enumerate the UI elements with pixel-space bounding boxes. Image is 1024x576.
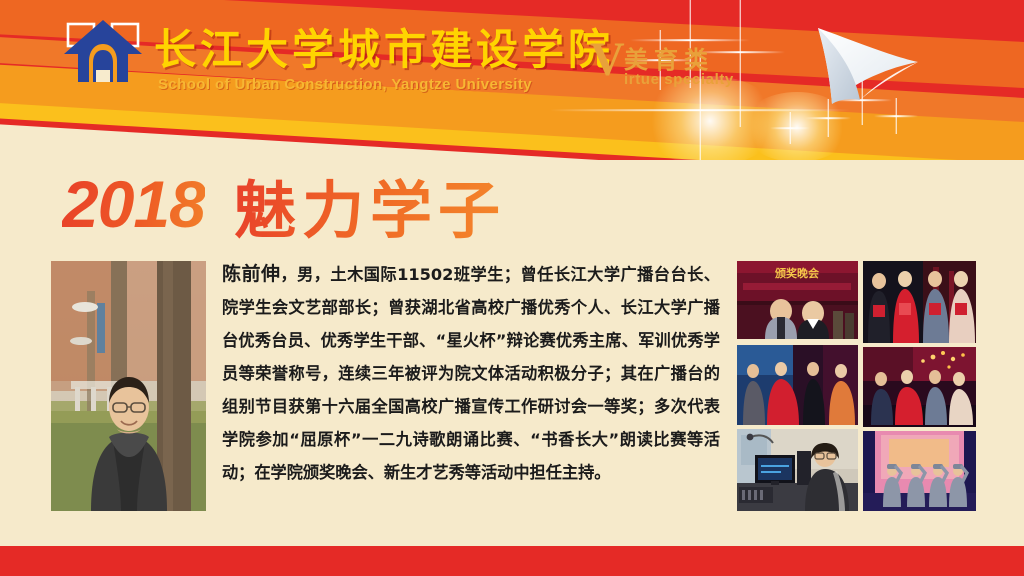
page-title: 魅力学子 — [234, 160, 506, 250]
photo-radio-studio[interactable] — [737, 429, 858, 511]
student-portrait — [51, 261, 206, 511]
photo-gallery: 颁奖晚会 — [737, 261, 976, 511]
svg-text:颁奖晚会: 颁奖晚会 — [775, 266, 820, 280]
student-bio-text: ，男，土木国际11502班学生；曾任长江大学广播台台长、院学生会文艺部部长；曾获… — [222, 265, 720, 482]
paper-plane-icon — [812, 22, 928, 114]
student-name: 陈前伸 — [222, 263, 280, 285]
badge-category-cn: 美育类 — [624, 40, 714, 75]
house-icon — [62, 14, 144, 86]
title-year: 2018 — [62, 166, 205, 242]
photo-award-winners-group[interactable] — [863, 261, 976, 343]
poster: 长江大学城市建设学院 School of Urban Construction,… — [0, 0, 1024, 576]
photo-stage-performance-blue[interactable] — [737, 345, 858, 425]
badge-initial: V — [590, 36, 625, 84]
student-bio: 陈前伸，男，土木国际11502班学生；曾任长江大学广播台台长、院学生会文艺部部长… — [222, 258, 720, 520]
photo-award-ceremony-hosts[interactable]: 颁奖晚会 — [737, 261, 858, 339]
badge-category-en: irtue specialty — [624, 71, 734, 88]
photo-stage-recital-red[interactable] — [863, 347, 976, 427]
footer-bar — [0, 546, 1024, 576]
title-row: 2018 魅力学子 — [62, 160, 962, 244]
school-name-cn: 长江大学城市建设学院 — [154, 16, 614, 77]
category-badge: V 美育类 irtue specialty — [590, 38, 750, 94]
header-banner: 长江大学城市建设学院 School of Urban Construction,… — [0, 0, 1024, 160]
photo-military-salute-performance[interactable] — [863, 431, 976, 511]
school-logo: 长江大学城市建设学院 School of Urban Construction,… — [62, 14, 582, 98]
school-name-en: School of Urban Construction, Yangtze Un… — [158, 76, 532, 93]
